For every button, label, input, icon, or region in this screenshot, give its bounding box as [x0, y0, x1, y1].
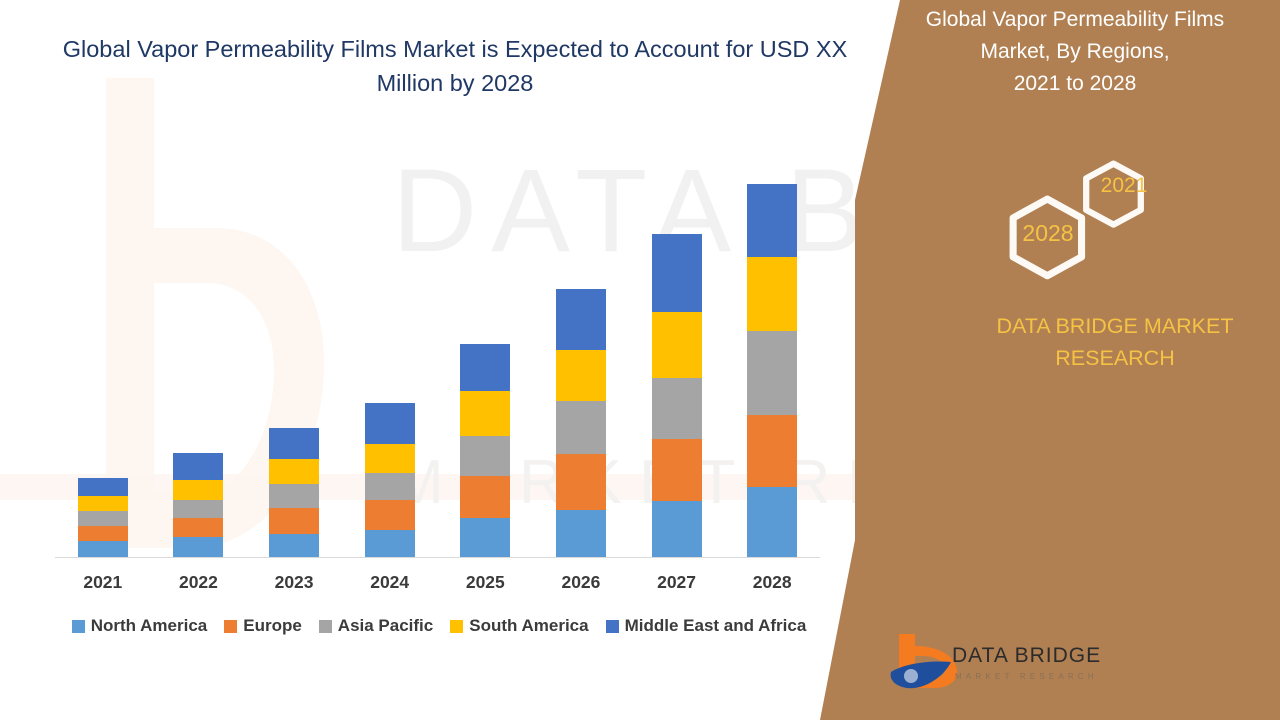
- panel-title-line-1: Global Vapor Permeability Films: [880, 4, 1270, 36]
- hex-badge-2028: 2028: [993, 220, 1103, 247]
- legend-label: Middle East and Africa: [625, 616, 807, 636]
- bar-slot: [629, 120, 725, 557]
- bar-segment[interactable]: [652, 378, 702, 439]
- stacked-bar-chart: [55, 120, 820, 560]
- bar-segment[interactable]: [747, 487, 797, 557]
- hexagon-outlines-icon: [985, 148, 1185, 288]
- bar-segment[interactable]: [365, 403, 415, 444]
- bar-segment[interactable]: [652, 312, 702, 378]
- legend-swatch-icon: [319, 620, 332, 633]
- legend-swatch-icon: [450, 620, 463, 633]
- x-axis-line: [55, 557, 820, 558]
- legend-item[interactable]: Europe: [224, 616, 302, 636]
- bar-segment[interactable]: [78, 478, 128, 496]
- hex-badge-2021: 2021: [1077, 174, 1171, 198]
- bar-segment[interactable]: [365, 530, 415, 557]
- bar-segment[interactable]: [173, 537, 223, 557]
- legend-label: Asia Pacific: [338, 616, 433, 636]
- bar-segment[interactable]: [269, 459, 319, 484]
- x-axis-labels: 20212022202320242025202620272028: [55, 572, 820, 593]
- legend-item[interactable]: North America: [72, 616, 208, 636]
- bar-segment[interactable]: [78, 541, 128, 557]
- bar-segment[interactable]: [556, 454, 606, 510]
- bar-segment[interactable]: [460, 391, 510, 436]
- bar-slot: [55, 120, 151, 557]
- bar-segment[interactable]: [652, 439, 702, 501]
- bar-segment[interactable]: [78, 526, 128, 541]
- panel-brand-line-1: DATA BRIDGE MARKET: [965, 310, 1265, 342]
- stacked-bar[interactable]: [747, 184, 797, 557]
- x-axis-label: 2023: [246, 572, 342, 593]
- bar-segment[interactable]: [365, 444, 415, 473]
- x-axis-label: 2021: [55, 572, 151, 593]
- stacked-bar[interactable]: [78, 478, 128, 557]
- chart-legend: North AmericaEuropeAsia PacificSouth Ame…: [55, 616, 823, 636]
- panel-title: Global Vapor Permeability Films Market, …: [880, 4, 1270, 100]
- bar-segment[interactable]: [269, 428, 319, 459]
- bar-group: [55, 120, 820, 557]
- bar-segment[interactable]: [269, 508, 319, 534]
- legend-item[interactable]: Asia Pacific: [319, 616, 433, 636]
- hexagon-badges: 2028 2021: [985, 148, 1185, 288]
- bar-segment[interactable]: [460, 344, 510, 391]
- bar-segment[interactable]: [556, 289, 606, 350]
- stacked-bar[interactable]: [173, 453, 223, 557]
- infographic-canvas: DATA BRIDGE MARKET RESEARCH Global Vapor…: [0, 0, 1280, 720]
- panel-title-line-2: Market, By Regions,: [880, 36, 1270, 68]
- legend-label: Europe: [243, 616, 302, 636]
- x-axis-label: 2028: [724, 572, 820, 593]
- legend-swatch-icon: [224, 620, 237, 633]
- bar-segment[interactable]: [269, 484, 319, 508]
- x-axis-label: 2022: [151, 572, 247, 593]
- bar-slot: [246, 120, 342, 557]
- bar-slot: [533, 120, 629, 557]
- bar-segment[interactable]: [556, 350, 606, 401]
- stacked-bar[interactable]: [556, 289, 606, 557]
- bar-segment[interactable]: [747, 331, 797, 415]
- bar-segment[interactable]: [78, 511, 128, 526]
- stacked-bar[interactable]: [365, 403, 415, 557]
- panel-title-line-3: 2021 to 2028: [880, 68, 1270, 100]
- bar-segment[interactable]: [652, 501, 702, 557]
- bar-segment[interactable]: [173, 518, 223, 537]
- logo-subtitle: MARKET RESEARCH: [955, 672, 1098, 681]
- panel-brand-text: DATA BRIDGE MARKET RESEARCH: [965, 310, 1265, 374]
- bar-segment[interactable]: [460, 436, 510, 476]
- page-title: Global Vapor Permeability Films Market i…: [60, 32, 850, 100]
- bar-segment[interactable]: [747, 415, 797, 487]
- bar-segment[interactable]: [747, 257, 797, 331]
- logo-wordmark: DATA BRIDGE: [952, 644, 1101, 668]
- legend-swatch-icon: [72, 620, 85, 633]
- bar-segment[interactable]: [460, 518, 510, 557]
- x-axis-label: 2025: [438, 572, 534, 593]
- bar-slot: [438, 120, 534, 557]
- stacked-bar[interactable]: [269, 428, 319, 557]
- bar-segment[interactable]: [78, 496, 128, 511]
- chart-plot-area: [55, 120, 820, 558]
- bar-slot: [724, 120, 820, 557]
- bar-segment[interactable]: [365, 473, 415, 500]
- panel-brand-line-2: RESEARCH: [965, 342, 1265, 374]
- bar-segment[interactable]: [173, 500, 223, 518]
- legend-label: North America: [91, 616, 208, 636]
- bar-segment[interactable]: [173, 453, 223, 480]
- bar-segment[interactable]: [173, 480, 223, 500]
- x-axis-label: 2026: [533, 572, 629, 593]
- bar-slot: [151, 120, 247, 557]
- bar-segment[interactable]: [556, 510, 606, 557]
- bar-segment[interactable]: [460, 476, 510, 518]
- bar-segment[interactable]: [556, 401, 606, 454]
- x-axis-label: 2027: [629, 572, 725, 593]
- bar-segment[interactable]: [365, 500, 415, 530]
- legend-swatch-icon: [606, 620, 619, 633]
- legend-label: South America: [469, 616, 588, 636]
- bar-segment[interactable]: [269, 534, 319, 557]
- legend-item[interactable]: South America: [450, 616, 588, 636]
- legend-item[interactable]: Middle East and Africa: [606, 616, 807, 636]
- stacked-bar[interactable]: [652, 234, 702, 557]
- x-axis-label: 2024: [342, 572, 438, 593]
- bar-segment[interactable]: [747, 184, 797, 257]
- stacked-bar[interactable]: [460, 344, 510, 557]
- bar-segment[interactable]: [652, 234, 702, 312]
- bar-slot: [342, 120, 438, 557]
